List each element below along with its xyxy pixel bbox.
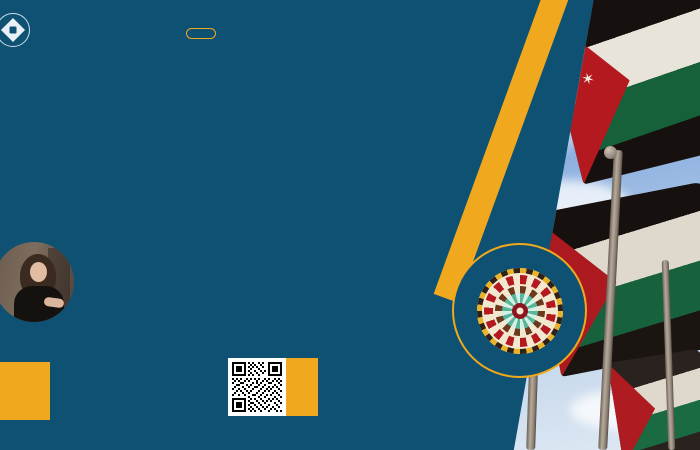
speaker-portrait	[0, 242, 74, 322]
university-crest-icon	[0, 13, 30, 47]
event-poster: ✶ ✶	[0, 0, 700, 450]
university-logo	[0, 13, 38, 47]
booking-bar[interactable]	[228, 358, 318, 416]
date-badge	[0, 362, 50, 420]
flagpole-finial	[604, 146, 617, 159]
jordan-flag-distant	[607, 348, 700, 450]
series-badge	[186, 28, 216, 39]
poster-header	[0, 0, 700, 62]
research-group-badge	[452, 243, 587, 378]
speaker-section	[0, 242, 88, 322]
mandala-core	[516, 307, 523, 314]
qr-code-icon[interactable]	[228, 358, 286, 416]
mandala-emblem	[477, 268, 563, 354]
qr-code-svg	[232, 362, 282, 412]
portrait-face	[30, 262, 47, 282]
